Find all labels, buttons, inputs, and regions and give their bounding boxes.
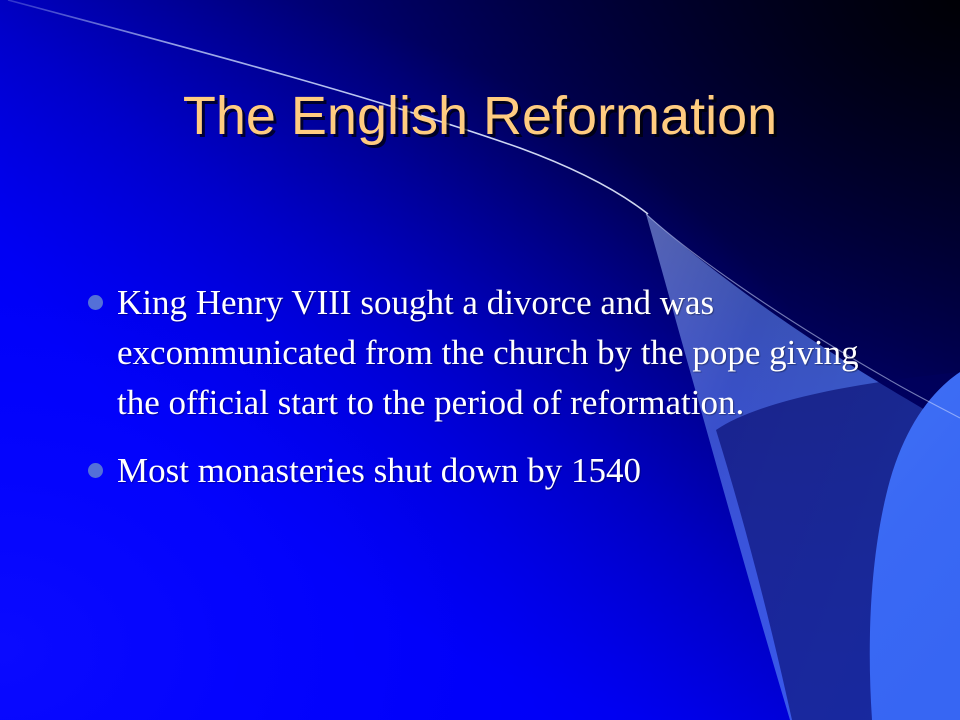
bullet-dot-icon <box>88 463 103 478</box>
presentation-slide: The English Reformation King Henry VIII … <box>0 0 960 720</box>
list-item-text: King Henry VIII sought a divorce and was… <box>117 278 884 428</box>
list-item-text: Most monasteries shut down by 1540 <box>117 446 884 496</box>
list-item: Most monasteries shut down by 1540 <box>84 446 884 496</box>
bullet-dot-icon <box>88 295 103 310</box>
slide-body-list: King Henry VIII sought a divorce and was… <box>84 278 884 514</box>
slide-title-text: The English Reformation <box>183 88 777 145</box>
slide-title: The English Reformation <box>60 88 900 145</box>
list-item: King Henry VIII sought a divorce and was… <box>84 278 884 428</box>
